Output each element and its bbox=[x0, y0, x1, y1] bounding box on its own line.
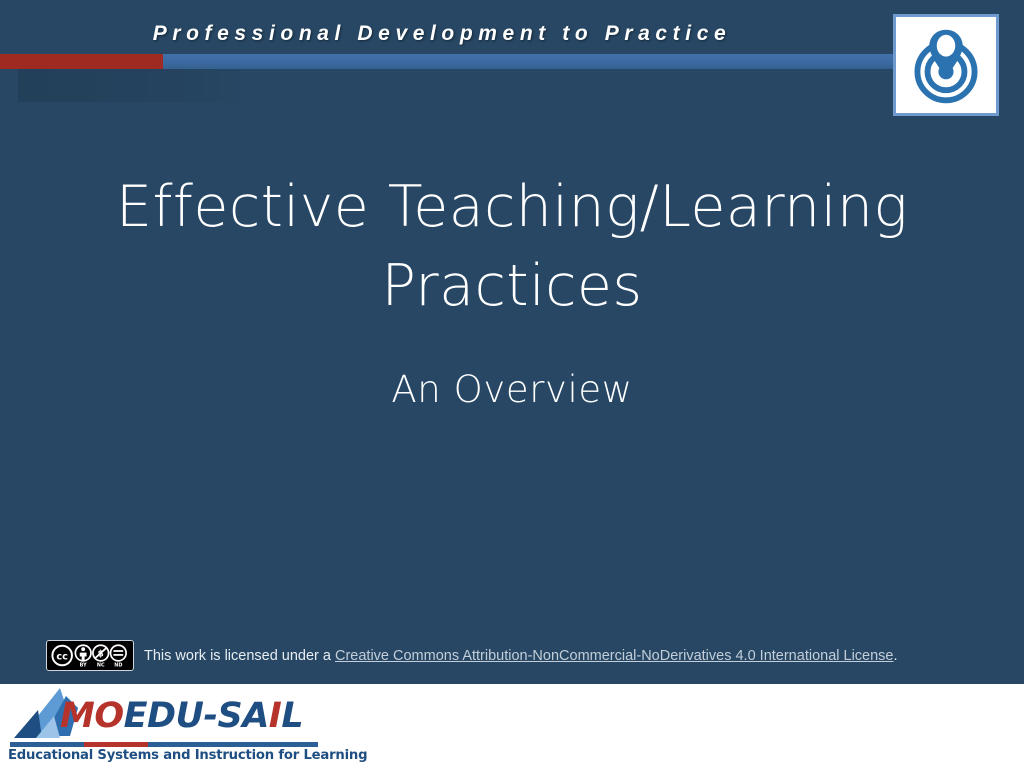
wordmark-i: I bbox=[269, 696, 282, 736]
wordmark-l: L bbox=[281, 696, 303, 736]
slide-subtitle: An Overview bbox=[112, 368, 912, 411]
header-band-red bbox=[0, 54, 163, 69]
footer-bar: MOEDU-SAIL Educational Systems and Instr… bbox=[0, 684, 1024, 768]
license-prefix: This work is licensed under a bbox=[144, 648, 335, 664]
banner-title: Professional Development to Practice bbox=[0, 22, 884, 46]
mo-edu-sail-logo: MOEDU-SAIL Educational Systems and Instr… bbox=[8, 686, 320, 766]
presentation-slide: Professional Development to Practice Eff… bbox=[0, 0, 1024, 768]
svg-text:NC: NC bbox=[97, 663, 105, 669]
edusail-rule-accent bbox=[84, 742, 148, 747]
license-suffix: . bbox=[893, 648, 897, 664]
svg-text:ND: ND bbox=[114, 663, 122, 669]
license-row: cc BY $ NC ND This work is licensed unde… bbox=[46, 640, 898, 671]
svg-text:BY: BY bbox=[80, 663, 87, 669]
creative-commons-badge-icon[interactable]: cc BY $ NC ND bbox=[46, 640, 134, 671]
header-watermark bbox=[18, 66, 248, 102]
slide-title: Effective Teaching/Learning Practices bbox=[112, 168, 912, 325]
license-link[interactable]: Creative Commons Attribution-NonCommerci… bbox=[335, 648, 893, 664]
license-statement: This work is licensed under a Creative C… bbox=[144, 648, 898, 664]
svg-text:cc: cc bbox=[56, 651, 68, 662]
mo-edu-sail-wordmark: MOEDU-SAIL bbox=[60, 694, 303, 738]
title-block: Effective Teaching/Learning Practices bbox=[112, 168, 912, 325]
wordmark-mo: MO bbox=[60, 696, 124, 736]
edusail-rule bbox=[10, 742, 318, 747]
wordmark-edu: EDU-SA bbox=[124, 696, 269, 736]
edusail-tagline: Educational Systems and Instruction for … bbox=[8, 748, 320, 763]
pd-to-practice-logo-box bbox=[893, 14, 999, 116]
header-band-blue bbox=[163, 54, 893, 69]
target-pin-icon bbox=[904, 23, 988, 107]
